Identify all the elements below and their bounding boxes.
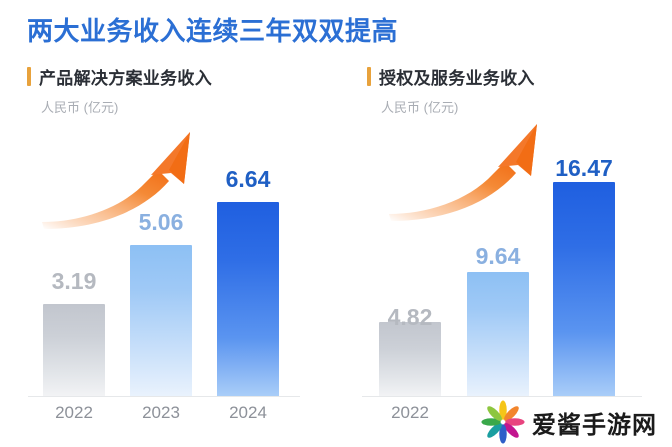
axis-baseline-right <box>362 396 642 397</box>
watermark: 爱酱手游网 <box>481 400 657 444</box>
panel-header-right: 授权及服务业务收入 人民币 (亿元) <box>367 64 535 116</box>
bar-2022-right <box>379 322 441 396</box>
value-label-2022-left: 3.19 <box>43 268 105 295</box>
panel-title-right: 授权及服务业务收入 <box>379 64 535 89</box>
accent-bar-icon <box>27 67 31 86</box>
panel-unit-left: 人民币 (亿元) <box>41 97 212 116</box>
value-label-2024-right: 16.47 <box>545 155 623 182</box>
value-label-2022-right: 4.82 <box>377 304 443 331</box>
panel-header-left: 产品解决方案业务收入 人民币 (亿元) <box>27 64 212 116</box>
watermark-text: 爱酱手游网 <box>532 405 657 440</box>
bar-2023-left <box>130 245 192 396</box>
year-label-2022-right: 2022 <box>374 403 446 423</box>
accent-bar-icon <box>367 67 371 86</box>
value-label-2023-right: 9.64 <box>465 243 531 270</box>
growth-arrow-icon <box>385 118 565 228</box>
bar-2024-left <box>217 202 279 396</box>
axis-baseline-left <box>28 396 300 397</box>
panel-product-solutions: 产品解决方案业务收入 人民币 (亿元) <box>0 0 340 447</box>
flower-pinwheel-icon <box>481 400 525 444</box>
value-label-2024-left: 6.64 <box>217 166 279 193</box>
bar-2024-right <box>553 182 615 396</box>
year-label-2022-left: 2022 <box>38 403 110 423</box>
bar-2023-right <box>467 272 529 396</box>
panel-licensing-services: 授权及服务业务收入 人民币 (亿元) <box>340 0 672 447</box>
bar-2022-left <box>43 304 105 396</box>
year-label-2023-left: 2023 <box>125 403 197 423</box>
growth-arrow-icon <box>38 126 218 236</box>
value-label-2023-left: 5.06 <box>130 209 192 236</box>
panel-unit-right: 人民币 (亿元) <box>381 97 535 116</box>
infographic-root: 两大业务收入连续三年双双提高 产品解决方案业务收入 人民币 (亿元) <box>0 0 672 447</box>
year-label-2024-left: 2024 <box>212 403 284 423</box>
panel-title-left: 产品解决方案业务收入 <box>39 64 212 89</box>
